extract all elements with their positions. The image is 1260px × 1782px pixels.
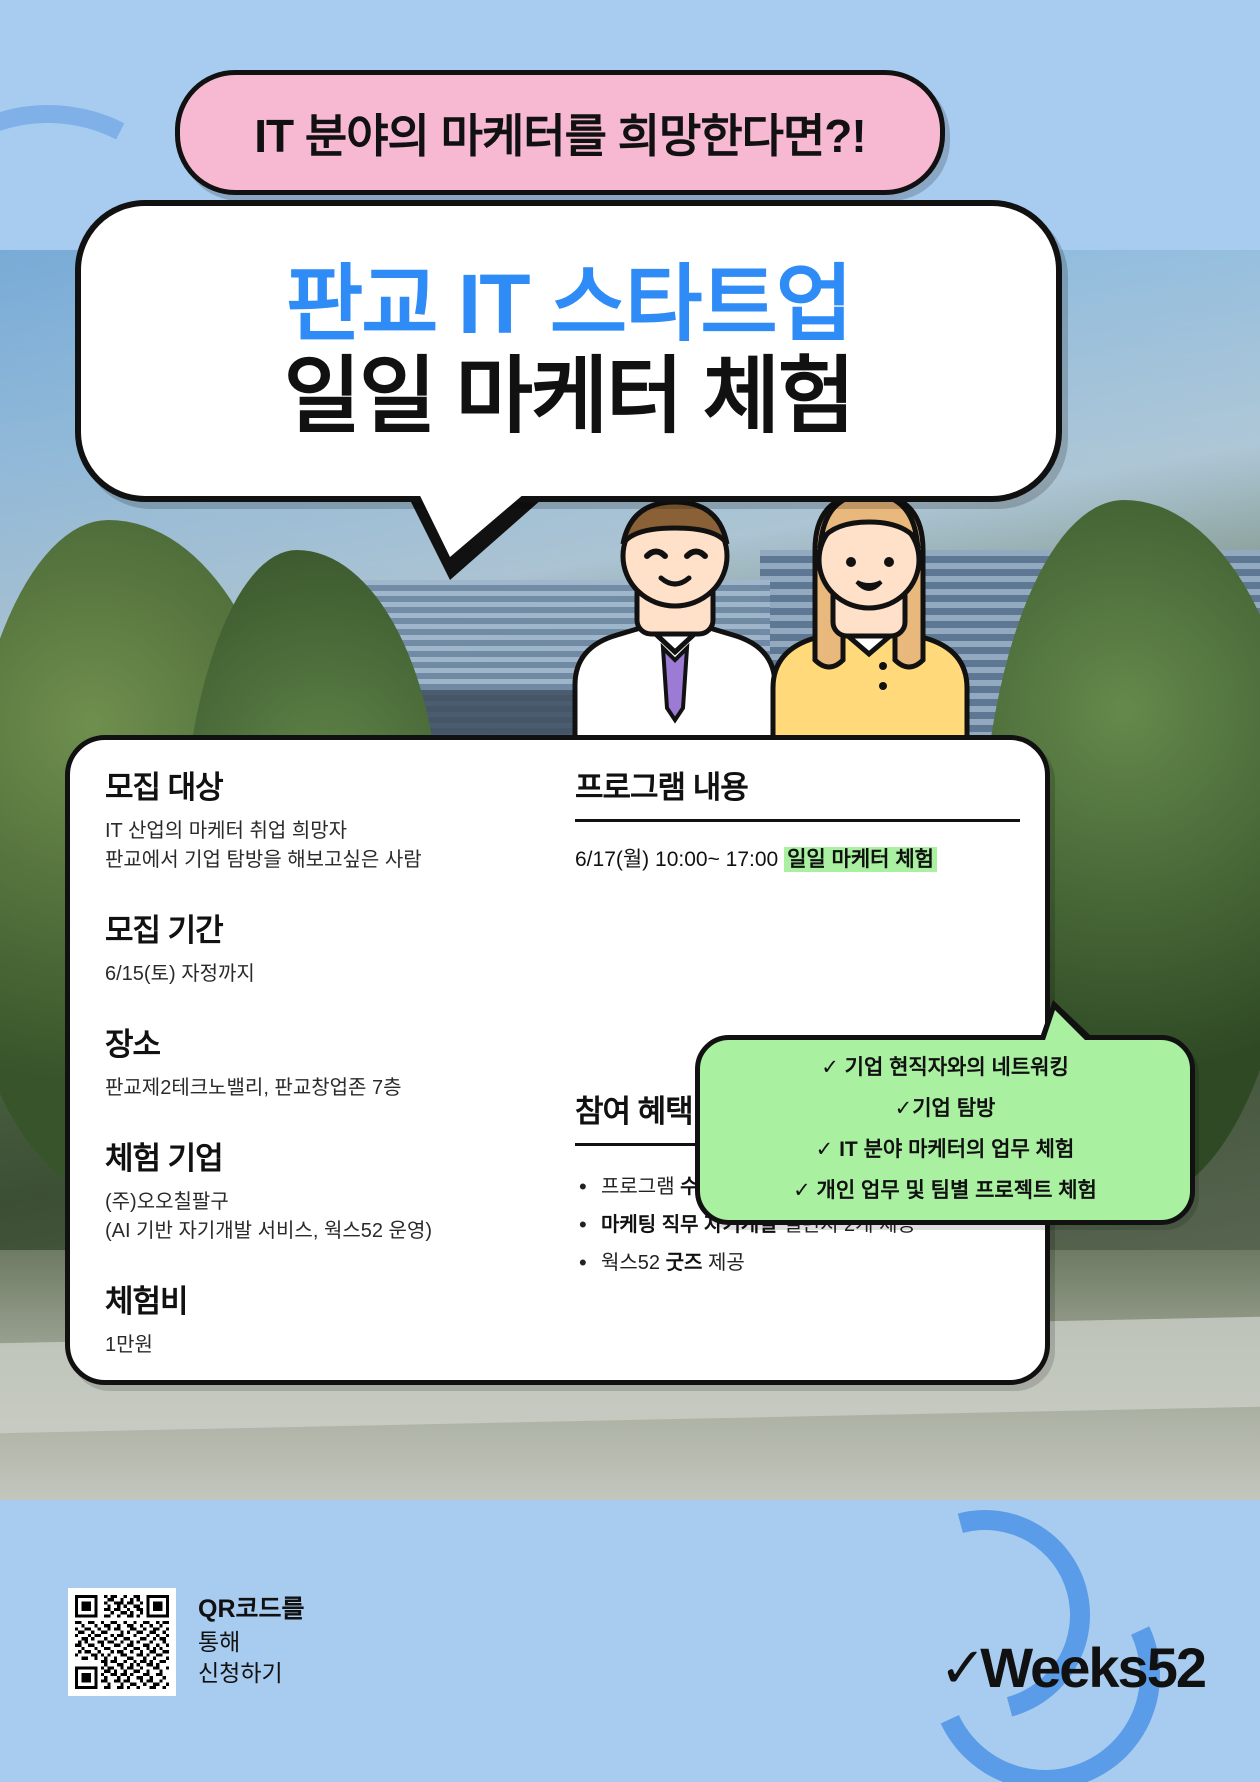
heading-program: 프로그램 내용: [575, 762, 1020, 807]
heading-venue: 장소: [105, 1019, 535, 1064]
period-line-1: 6/15(토) 자정까지: [105, 960, 535, 989]
benefit-3-pre: 웍스52: [601, 1252, 666, 1274]
green-bubble-tail-fill-icon: [1041, 1010, 1097, 1052]
character-illustration: [545, 470, 1005, 740]
schedule-highlight: 일일 마케터 체험: [784, 847, 937, 872]
venue-line-1: 판교제2테크노밸리, 판교창업존 7층: [105, 1074, 535, 1103]
target-line-2: 판교에서 기업 탐방을 해보고싶은 사람: [105, 846, 535, 875]
qr-code-icon[interactable]: [68, 1588, 176, 1696]
benefit-1-pre: 프로그램: [601, 1176, 680, 1198]
company-line-1: (주)오오칠팔구: [105, 1188, 535, 1217]
target-line-1: IT 산업의 마케터 취업 희망자: [105, 817, 535, 846]
fee-line-1: 1만원: [105, 1331, 535, 1360]
heading-company: 체험 기업: [105, 1133, 535, 1178]
benefit-item-3: 웍스52 굿즈 제공: [575, 1244, 1020, 1282]
qr-label: QR코드를 통해 신청하기: [198, 1588, 305, 1690]
company-line-2: (AI 기반 자기개발 서비스, 웍스52 운영): [105, 1217, 535, 1246]
tagline-pill: IT 분야의 마케터를 희망한다면?!: [175, 70, 945, 195]
green-item-4: ✓ 개인 업무 및 팀별 프로젝트 체험: [793, 1171, 1097, 1212]
green-item-3: ✓ IT 분야 마케터의 업무 체험: [816, 1130, 1075, 1171]
brand-logo-text: Weeks52: [980, 1640, 1205, 1696]
heading-period: 모집 기간: [105, 905, 535, 950]
benefit-3-bold: 굿즈: [666, 1252, 703, 1274]
title-line-2: 일일 마케터 체험: [284, 352, 854, 440]
poster-root: IT 분야의 마케터를 희망한다면?! 판교 IT 스타트업 일일 마케터 체험: [0, 0, 1260, 1782]
program-schedule: 6/17(월) 10:00~ 17:00 일일 마케터 체험: [575, 844, 1020, 876]
heading-fee: 체험비: [105, 1276, 535, 1321]
check-icon: ✓: [939, 1640, 986, 1696]
qr-label-line-2: 통해: [198, 1627, 305, 1659]
character-woman: [773, 494, 967, 740]
benefit-3-post: 제공: [702, 1252, 744, 1274]
qr-label-line-3: 신청하기: [198, 1658, 305, 1690]
green-item-1: ✓ 기업 현직자와의 네트워킹: [821, 1048, 1069, 1089]
green-highlights-bubble: ✓ 기업 현직자와의 네트워킹 ✓기업 탐방 ✓ IT 분야 마케터의 업무 체…: [695, 1035, 1195, 1225]
brand-logo: ✓ Weeks52: [939, 1640, 1205, 1696]
qr-label-line-1: QR코드를: [198, 1592, 305, 1627]
schedule-time: 6/17(월) 10:00~ 17:00: [575, 848, 784, 871]
green-item-2: ✓기업 탐방: [895, 1089, 996, 1130]
left-column: 모집 대상 IT 산업의 마케터 취업 희망자 판교에서 기업 탐방을 해보고싶…: [105, 762, 535, 1360]
tagline-text: IT 분야의 마케터를 희망한다면?!: [254, 100, 865, 166]
heading-target: 모집 대상: [105, 762, 535, 807]
title-line-1: 판교 IT 스타트업: [286, 262, 851, 346]
title-speech-bubble: 판교 IT 스타트업 일일 마케터 체험: [75, 200, 1062, 502]
character-man: [575, 502, 775, 740]
bubble-tail-fill-icon: [405, 465, 558, 557]
qr-application-block[interactable]: QR코드를 통해 신청하기: [68, 1588, 305, 1696]
program-divider: [575, 819, 1020, 822]
